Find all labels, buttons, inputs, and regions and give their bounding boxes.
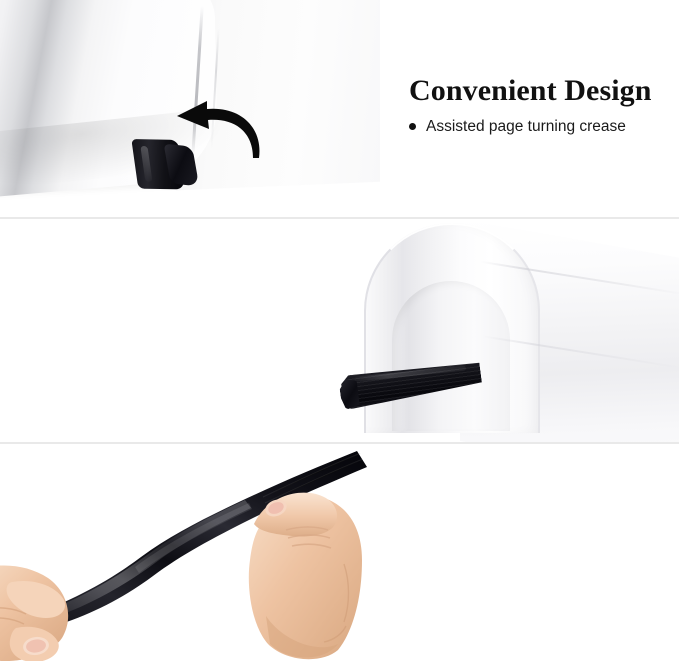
panel-3-product-image (0, 444, 400, 661)
panel-1-text-block: Convenient Design Assisted page turning … (409, 74, 652, 136)
panel-1-bullet-row: Assisted page turning crease (409, 117, 652, 136)
panel-1-heading: Convenient Design (409, 74, 652, 108)
left-hand-gripping-bar (0, 556, 84, 661)
curved-arrow-icon (163, 98, 279, 160)
product-infographic: Convenient Design Assisted page turning … (0, 0, 679, 661)
panel-1-bullet-text: Assisted page turning crease (426, 117, 626, 136)
right-hand-gripping-bar (238, 464, 366, 661)
bullet-dot-icon (409, 123, 416, 130)
feature-panel-convenient-design: Convenient Design Assisted page turning … (0, 0, 679, 218)
feature-panel-reliable-pp-material: Reliable PP Material Free to bend withou… (0, 219, 679, 443)
feature-panel-premium-sliding-bar: Premium Sliding Bar 360° torsion without… (0, 444, 679, 661)
panel-1-product-image (0, 0, 380, 218)
panel-2-product-image (330, 219, 679, 443)
